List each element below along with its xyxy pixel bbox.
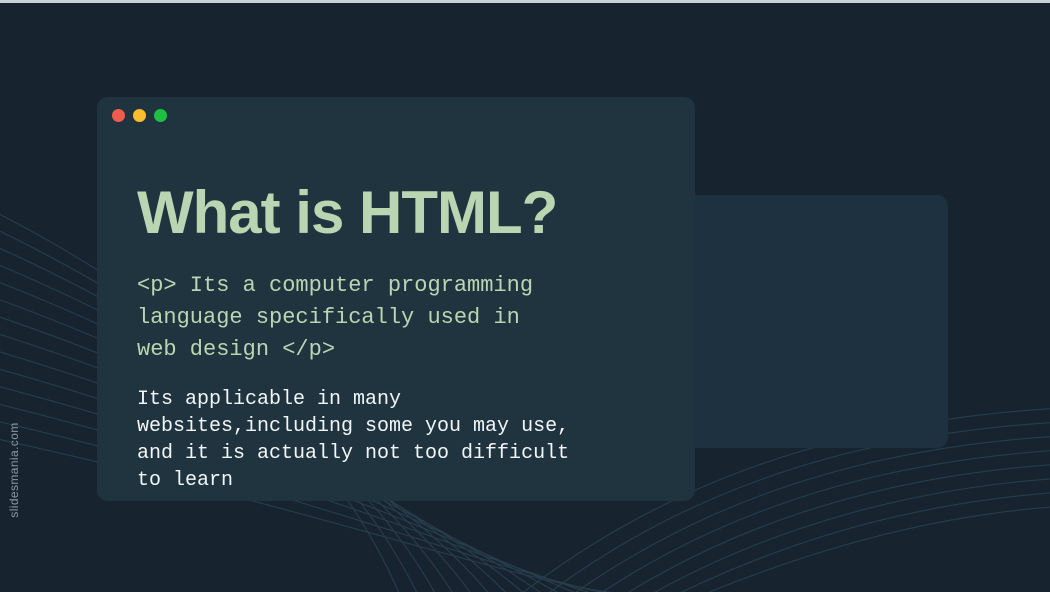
window-content: What is HTML? <p> Its a computer program…	[137, 181, 671, 494]
code-snippet-paragraph: <p> Its a computer programming language …	[137, 270, 671, 366]
body-paragraph: Its applicable in many websites,includin…	[137, 386, 671, 494]
page-title: What is HTML?	[137, 181, 671, 244]
minimize-dot[interactable]	[133, 109, 146, 122]
maximize-dot[interactable]	[154, 109, 167, 122]
front-window[interactable]: What is HTML? <p> Its a computer program…	[97, 97, 695, 501]
front-window-traffic-lights	[112, 109, 167, 122]
watermark-slidesmania: slidesmania.com	[7, 405, 21, 535]
close-dot[interactable]	[112, 109, 125, 122]
slide-canvas: slidesmania.com What is HTML? <p> Its a …	[0, 0, 1050, 592]
